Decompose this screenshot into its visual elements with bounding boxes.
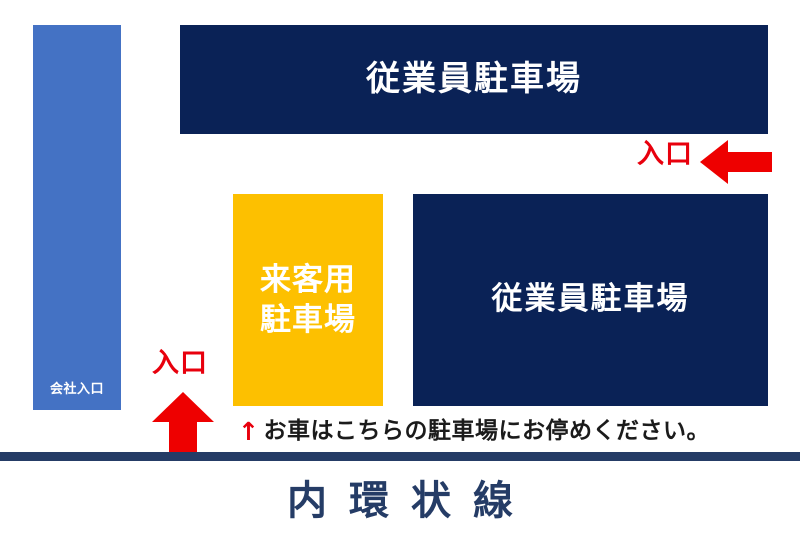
road-name-label: 内環状線	[0, 477, 800, 525]
visitor-parking-label-line1: 来客用	[260, 262, 356, 298]
parking-instruction-caption: ↑ お車はこちらの駐車場にお停めください。	[238, 419, 710, 444]
caption-up-arrow-icon: ↑	[238, 419, 259, 444]
parking-map-diagram: 会社入口 従業員駐車場 入口 来客用 駐車場 従業員駐車場 入口 ↑ お車はこち…	[0, 0, 800, 554]
visitor-parking-label: 来客用 駐車場	[260, 260, 356, 341]
entrance-label-right: 入口	[637, 141, 693, 168]
employee-parking-label-top: 従業員駐車場	[366, 60, 582, 99]
arrow-up-icon	[152, 392, 214, 456]
employee-parking-lot-top: 従業員駐車場	[180, 25, 768, 134]
arrow-left-icon	[700, 140, 772, 184]
caption-text: お車はこちらの駐車場にお停めください。	[263, 420, 710, 443]
company-entrance-label: 会社入口	[33, 383, 121, 396]
visitor-parking-lot: 来客用 駐車場	[233, 194, 383, 406]
employee-parking-lot-bottom: 従業員駐車場	[413, 194, 768, 406]
entrance-label-bottom-left: 入口	[152, 350, 208, 377]
employee-parking-label-bottom: 従業員駐車場	[492, 282, 690, 318]
visitor-parking-label-line2: 駐車場	[260, 302, 356, 338]
company-entrance-building: 会社入口	[33, 25, 121, 410]
road-line	[0, 452, 800, 461]
